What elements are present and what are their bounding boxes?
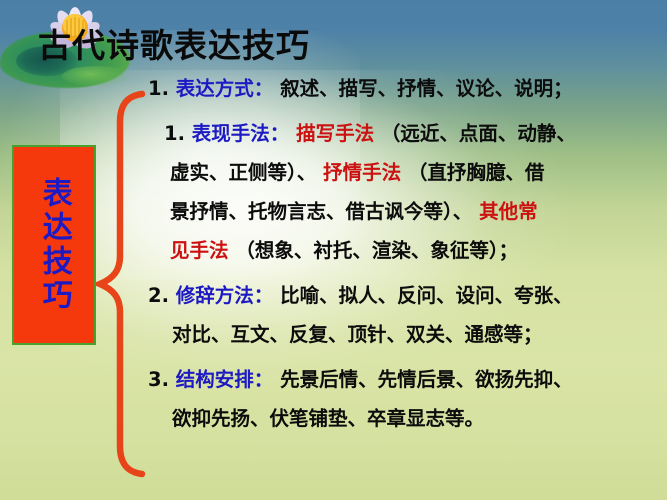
item1-body: 叙述、描写、抒情、议论、说明； <box>280 77 573 100</box>
item1-number: 1. <box>148 77 169 100</box>
list-item-2-line-4: 见手法 （想象、衬托、渲染、象征等）； <box>148 240 660 261</box>
item3-heading: 修辞方法： <box>176 284 274 307</box>
side-label-box: 表达技巧 <box>12 145 96 345</box>
item3-line2-text: 对比、互文、反复、顶针、双关、通感等； <box>172 323 543 346</box>
item2-heading: 表现手法： <box>192 122 290 145</box>
item2-emphasis-3: 其他常 <box>479 200 538 223</box>
side-label-text: 表达技巧 <box>38 177 70 313</box>
item4-line1-text: 先景后情、先情后景、欲扬先抑、 <box>280 368 573 391</box>
item2-line2-text-a: 虚实、正侧等）、 <box>170 161 316 184</box>
item4-number: 3. <box>148 368 169 391</box>
item2-line4-text: （想象、衬托、渲染、象征等）； <box>235 239 518 262</box>
item3-line1-text: 比喻、拟人、反问、设问、夸张、 <box>280 284 573 307</box>
item3-number: 2. <box>148 284 169 307</box>
item2-line1-text: （远近、点面、动静、 <box>381 122 576 145</box>
item1-heading: 表达方式： <box>176 77 274 100</box>
item4-heading: 结构安排： <box>176 368 274 391</box>
list-item-2-line-3: 景抒情、托物言志、借古讽今等）、 其他常 <box>148 201 660 222</box>
lily-pad-highlight <box>62 66 132 86</box>
curly-brace-icon <box>96 88 150 480</box>
item2-line2-text-b: （直抒胸臆、借 <box>408 161 545 184</box>
item2-number: 1. <box>164 122 185 145</box>
curly-brace-svg <box>96 88 150 480</box>
page-title: 古代诗歌表达技巧 <box>38 26 310 66</box>
item4-line2-text: 欲抑先扬、伏笔铺垫、卒章显志等。 <box>172 407 484 430</box>
item2-emphasis-2: 抒情手法 <box>323 161 401 184</box>
item2-emphasis-4: 见手法 <box>170 239 229 262</box>
list-item-3-line-2: 对比、互文、反复、顶针、双关、通感等； <box>148 324 660 345</box>
list-item-2-line-2: 虚实、正侧等）、 抒情手法 （直抒胸臆、借 <box>148 162 660 183</box>
list-item-4-line-2: 欲抑先扬、伏笔铺垫、卒章显志等。 <box>148 408 660 429</box>
list-item-3-line-1: 2. 修辞方法： 比喻、拟人、反问、设问、夸张、 <box>148 285 660 306</box>
list-item-1: 1. 表达方式： 叙述、描写、抒情、议论、说明； <box>148 78 660 99</box>
content-block: 1. 表达方式： 叙述、描写、抒情、议论、说明； 1. 表现手法： 描写手法 （… <box>148 76 660 429</box>
list-item-4-line-1: 3. 结构安排： 先景后情、先情后景、欲扬先抑、 <box>148 369 660 390</box>
item2-emphasis-1: 描写手法 <box>296 122 374 145</box>
item2-line3-text: 景抒情、托物言志、借古讽今等）、 <box>170 200 472 223</box>
list-item-2-line-1: 1. 表现手法： 描写手法 （远近、点面、动静、 <box>148 123 660 144</box>
slide-canvas: 古代诗歌表达技巧 表达技巧 1. 表达方式： 叙述、描写、抒情、议论、说明； 1… <box>0 0 667 500</box>
